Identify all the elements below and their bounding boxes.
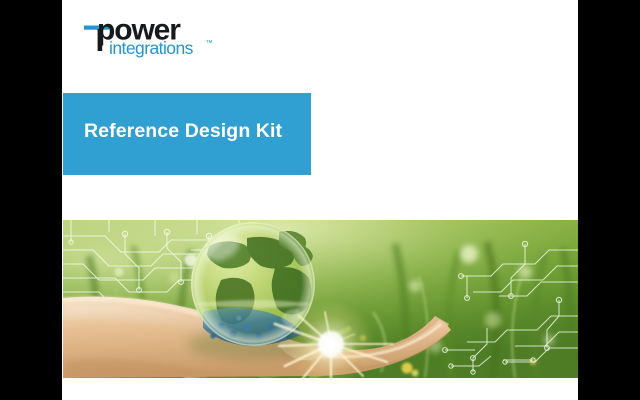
logo-p-stem — [98, 29, 103, 51]
power-integrations-logo: power integrations ™ — [84, 11, 234, 59]
hero-image — [63, 220, 578, 378]
reference-design-kit-banner: Reference Design Kit — [63, 93, 311, 175]
page-title: Reference Design Kit — [63, 122, 282, 142]
screenshot-viewport: power integrations ™ Reference Design Ki… — [0, 0, 640, 400]
logo-word-integrations: integrations — [109, 38, 194, 58]
logo-trademark-icon: ™ — [206, 40, 213, 47]
document-page: power integrations ™ Reference Design Ki… — [62, 0, 578, 400]
